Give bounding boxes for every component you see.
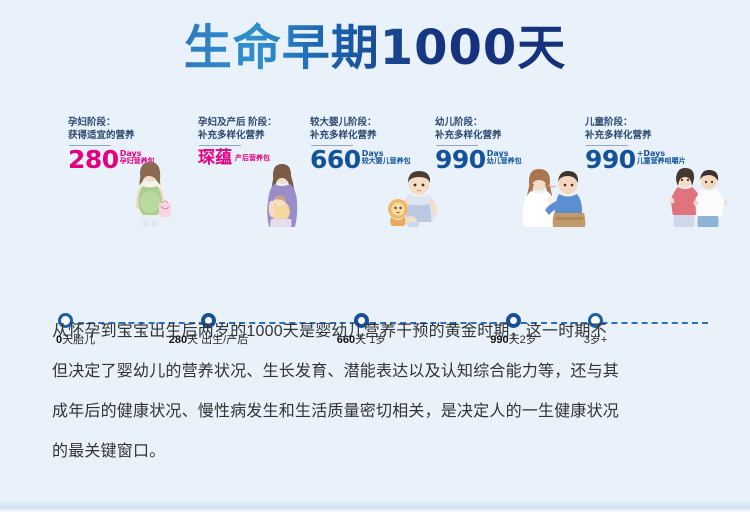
stage-pregnant-heading-line1: 孕妇阶段： <box>68 116 218 129</box>
stage-pregnant-heading-line2: 获得适宜的营养 <box>68 129 218 142</box>
stage-child: 儿童阶段： 补充多样化营养 990 +Days 儿童营养咀嚼片 <box>585 116 735 172</box>
stage-postpartum-unit-zh: 产后营养包 <box>235 148 270 162</box>
stage-pregnant-number: 280 <box>68 148 119 172</box>
mother-holding-baby-illustration <box>258 163 304 227</box>
description-line-4: 的最关键窗口。 <box>52 432 712 472</box>
mother-kissing-toddler-illustration <box>518 165 588 227</box>
stage-postpartum-divider <box>199 145 241 146</box>
stage-child-heading-line2: 补充多样化营养 <box>585 129 735 142</box>
baby-with-lion-toy-illustration <box>385 169 441 227</box>
stage-toddler-heading-line1: 幼儿阶段： <box>435 116 585 129</box>
stage-toddler-unit-zh: 幼儿营养包 <box>487 158 522 166</box>
description-line-1: 从怀孕到宝宝出生后两岁的1000天是婴幼儿营养干预的黄金时期，这一时期不 <box>52 312 712 352</box>
page-root: 生命早期1000天 孕妇阶段： 获得适宜的营养 280 Days 孕妇营养包 <box>0 0 750 512</box>
stage-pregnant-unit-en: Days <box>120 149 155 158</box>
timeline-infographic: 孕妇阶段： 获得适宜的营养 280 Days 孕妇营养包 <box>0 110 750 245</box>
stage-child-heading-line1: 儿童阶段： <box>585 116 735 129</box>
stage-toddler-heading-line2: 补充多样化营养 <box>435 129 585 142</box>
stage-older-infant-unit-en: Days <box>362 149 411 158</box>
page-title: 生命早期1000天 <box>0 18 750 78</box>
description-line-3: 成年后的健康状况、慢性病发生和生活质量密切相关，是决定人的一生健康状况 <box>52 392 712 432</box>
description-paragraph: 从怀孕到宝宝出生后两岁的1000天是婴幼儿营养干预的黄金时期，这一时期不 但决定… <box>52 312 712 472</box>
stage-toddler-unit-en: Days <box>487 149 522 158</box>
pregnant-woman-illustration <box>126 161 174 227</box>
stage-child-unit-en: +Days <box>637 149 686 158</box>
stage-older-infant-number: 660 <box>310 148 361 172</box>
two-children-illustration <box>665 165 727 227</box>
stage-child-number: 990 <box>585 148 636 172</box>
stage-toddler: 幼儿阶段： 补充多样化营养 990 Days 幼儿营养包 <box>435 116 585 172</box>
stage-toddler-number: 990 <box>435 148 486 172</box>
description-line-2: 但决定了婴幼儿的营养状况、生长发育、潜能表达以及认知综合能力等，还与其 <box>52 352 712 392</box>
stage-postpartum-brand: 琛蕴 <box>198 148 232 168</box>
bottom-gradient-band <box>0 502 750 512</box>
stage-older-infant-unit-zh: 较大婴儿营养包 <box>362 158 411 166</box>
